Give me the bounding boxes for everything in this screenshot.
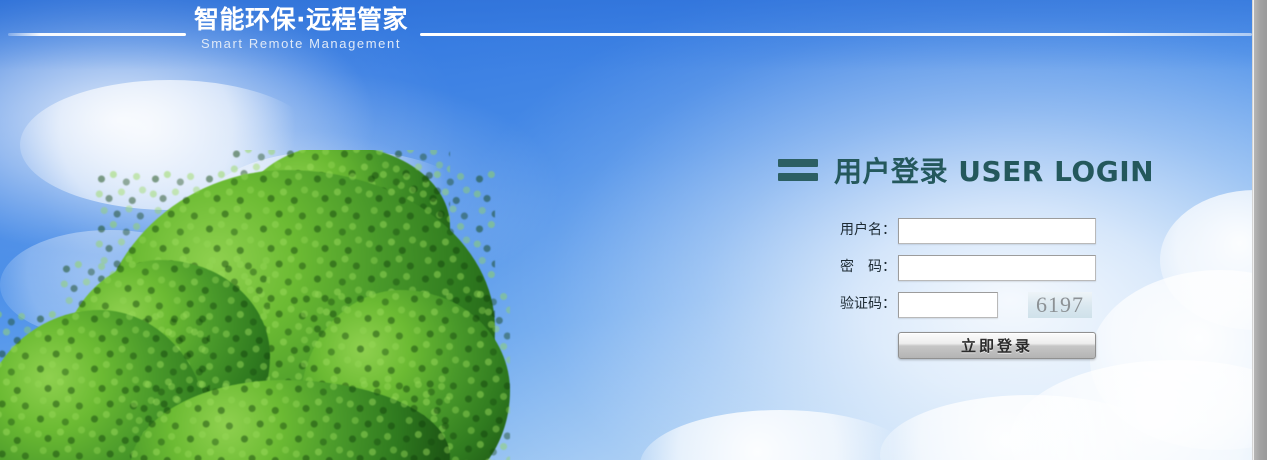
login-page: 智能环保·远程管家 Smart Remote Management 用户登录 U…	[0, 0, 1267, 460]
username-input[interactable]	[898, 218, 1096, 244]
form-row-password: 密 码：	[840, 255, 1160, 281]
form-row-username: 用户名：	[840, 218, 1160, 244]
header-rule-right	[420, 33, 1252, 36]
login-form: 用户名： 密 码： 验证码： 6197 立即登录	[840, 218, 1160, 359]
login-title-row: 用户登录 USER LOGIN	[778, 150, 1160, 190]
submit-row: 立即登录	[898, 332, 1160, 359]
captcha-image[interactable]: 6197	[1028, 292, 1092, 318]
brand-block: 智能环保·远程管家 Smart Remote Management	[186, 4, 416, 52]
two-bars-icon	[778, 159, 818, 181]
brand-title-en: Smart Remote Management	[186, 36, 416, 52]
login-panel: 用户登录 USER LOGIN 用户名： 密 码： 验证码： 6197 立即登录	[760, 150, 1160, 359]
login-submit-button[interactable]: 立即登录	[898, 332, 1096, 359]
password-label: 密 码：	[840, 255, 898, 277]
scrollbar-thumb[interactable]	[1254, 0, 1267, 460]
captcha-label: 验证码：	[840, 292, 898, 314]
login-title-text: 用户登录 USER LOGIN	[834, 150, 1154, 190]
vertical-scrollbar[interactable]	[1252, 0, 1267, 460]
captcha-input[interactable]	[898, 292, 998, 318]
username-label: 用户名：	[840, 218, 898, 240]
brand-title-cn: 智能环保·远程管家	[186, 4, 416, 36]
form-row-captcha: 验证码： 6197	[840, 292, 1160, 318]
password-input[interactable]	[898, 255, 1096, 281]
header-rule-left	[8, 33, 186, 36]
